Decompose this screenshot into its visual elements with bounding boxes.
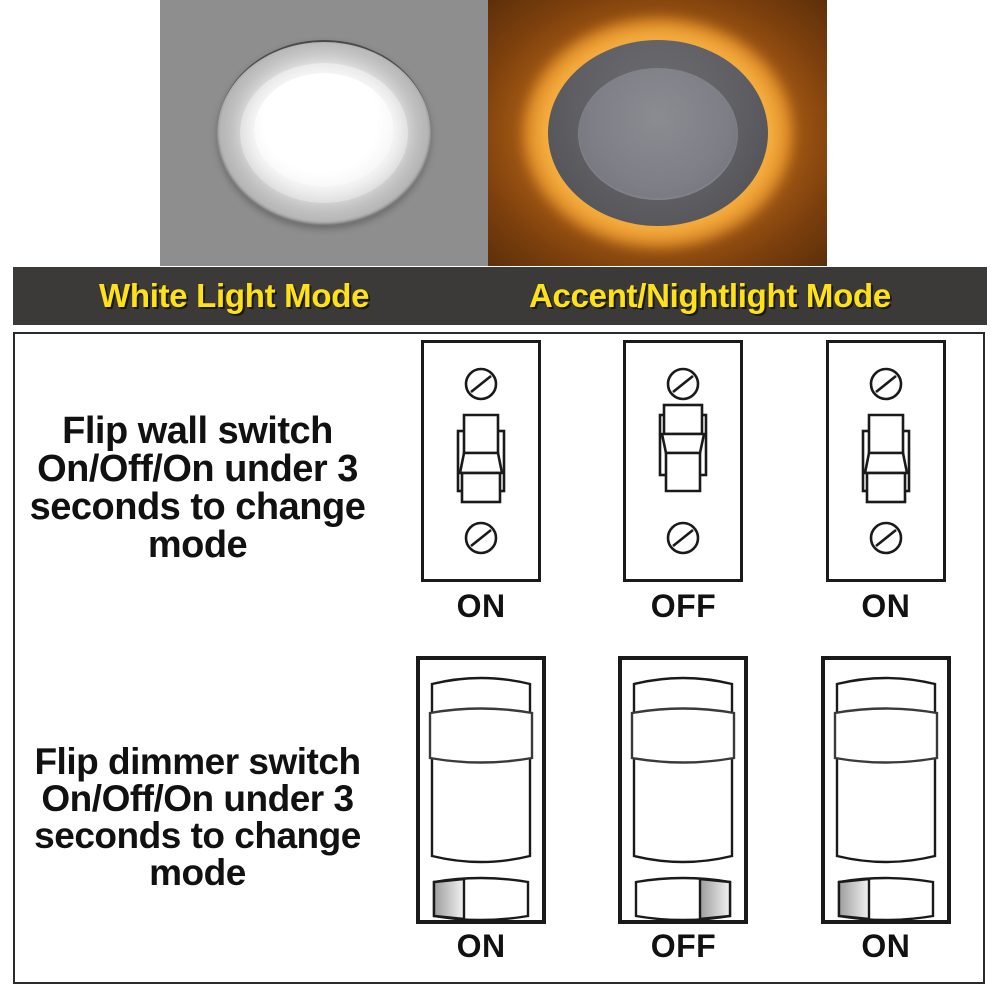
instruction-text: Flip dimmer switch On/Off/On under 3 sec… (15, 743, 380, 891)
row-wall-switch: Flip wall switch On/Off/On under 3 secon… (15, 336, 987, 640)
dimmer-switch-cell-1[interactable]: ON (416, 656, 546, 965)
toggle-switch-plate-on-2[interactable] (826, 340, 946, 582)
toggle-switch-on-icon (829, 343, 943, 579)
switch-state-label: ON (457, 928, 506, 965)
light-lens-illuminated (254, 73, 394, 187)
switch-state-label: ON (457, 588, 506, 625)
instruction-dimmer-switch: Flip dimmer switch On/Off/On under 3 sec… (15, 652, 380, 982)
instruction-wall-switch: Flip wall switch On/Off/On under 3 secon… (15, 336, 380, 640)
photo-white-light-mode (160, 0, 488, 266)
mode-label-white-light: White Light Mode (99, 277, 369, 315)
toggle-switch-plate-on[interactable] (421, 340, 541, 582)
wall-switch-cell-1[interactable]: ON (421, 340, 541, 625)
dimmer-switch-on-icon (825, 660, 947, 920)
toggle-switch-on-icon (424, 343, 538, 579)
wall-switch-cell-3[interactable]: ON (826, 340, 946, 625)
wall-switch-cell-2[interactable]: OFF (623, 340, 743, 625)
dimmer-switch-cell-2[interactable]: OFF (618, 656, 748, 965)
wall-switch-cells: ON (380, 336, 987, 640)
mode-label-accent-nightlight: Accent/Nightlight Mode (529, 277, 891, 315)
instruction-graphic: White Light Mode Accent/Nightlight Mode … (0, 0, 1000, 1000)
dimmer-switch-on-icon (420, 660, 542, 920)
switch-state-label: OFF (651, 928, 716, 965)
switch-state-label: OFF (651, 588, 716, 625)
photo-accent-nightlight-mode (488, 0, 827, 266)
dimmer-switch-cell-3[interactable]: ON (821, 656, 951, 965)
dimmer-switch-off-icon (622, 660, 744, 920)
toggle-switch-off-icon (626, 343, 740, 579)
light-lens-dark (578, 68, 738, 200)
switch-state-label: ON (861, 928, 910, 965)
toggle-switch-plate-off[interactable] (623, 340, 743, 582)
dimmer-switch-cells: ON (380, 652, 987, 982)
switch-state-label: ON (861, 588, 910, 625)
instructions-panel: Flip wall switch On/Off/On under 3 secon… (13, 332, 985, 984)
row-dimmer-switch: Flip dimmer switch On/Off/On under 3 sec… (15, 652, 987, 982)
dimmer-switch-plate-on-2[interactable] (821, 656, 951, 924)
photo-strip (0, 0, 1000, 266)
mode-label-bar: White Light Mode Accent/Nightlight Mode (13, 267, 987, 325)
instruction-text: Flip wall switch On/Off/On under 3 secon… (15, 412, 380, 564)
dimmer-switch-plate-on[interactable] (416, 656, 546, 924)
dimmer-switch-plate-off[interactable] (618, 656, 748, 924)
